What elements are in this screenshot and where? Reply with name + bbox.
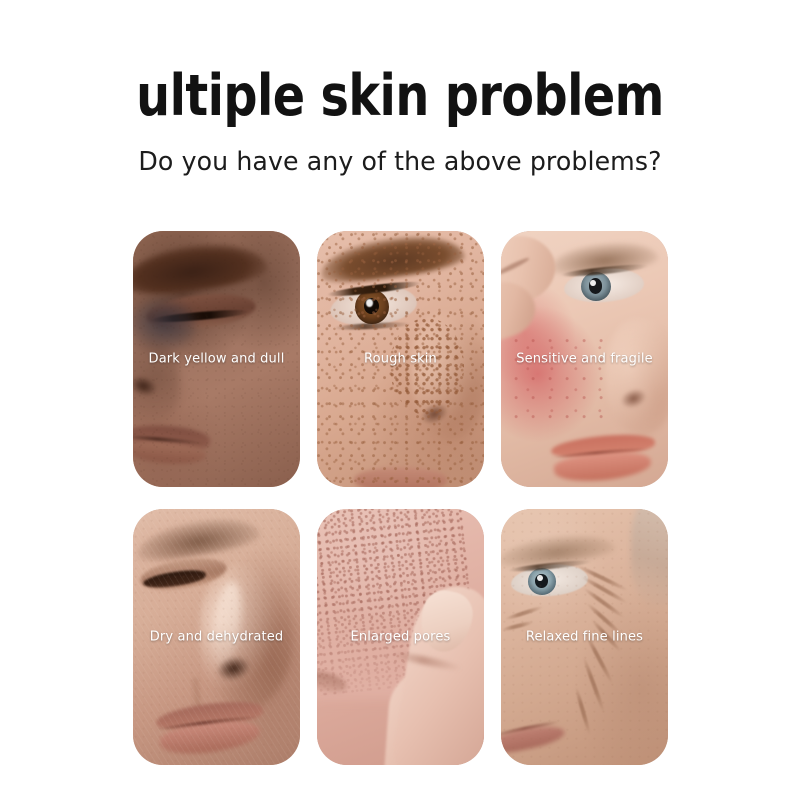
header: ultiple skin problem Do you have any of … xyxy=(0,0,800,175)
irritation-spots-overlay xyxy=(511,333,605,420)
skin-problem-card[interactable]: Enlarged pores xyxy=(317,509,484,765)
card-label: Relaxed fine lines xyxy=(501,630,668,645)
skin-problem-card[interactable]: Relaxed fine lines xyxy=(501,509,668,765)
skin-problem-card-grid: Dark yellow and dull Rough skin xyxy=(133,231,668,765)
page-title: ultiple skin problem xyxy=(28,68,772,125)
skin-problem-card[interactable]: Sensitive and fragile xyxy=(501,231,668,487)
card-label: Dry and dehydrated xyxy=(133,630,300,645)
skin-problem-card[interactable]: Rough skin xyxy=(317,231,484,487)
skin-problem-card[interactable]: Dark yellow and dull xyxy=(133,231,300,487)
nose-shape xyxy=(605,318,668,436)
card-label: Enlarged pores xyxy=(317,630,484,645)
card-label: Sensitive and fragile xyxy=(501,352,668,367)
skin-problem-card[interactable]: Dry and dehydrated xyxy=(133,509,300,765)
card-label: Rough skin xyxy=(317,352,484,367)
card-label: Dark yellow and dull xyxy=(133,352,300,367)
dense-freckle-patch xyxy=(390,318,463,415)
page-subtitle: Do you have any of the above problems? xyxy=(12,149,788,175)
skin-problem-poster: ultiple skin problem Do you have any of … xyxy=(0,0,800,800)
